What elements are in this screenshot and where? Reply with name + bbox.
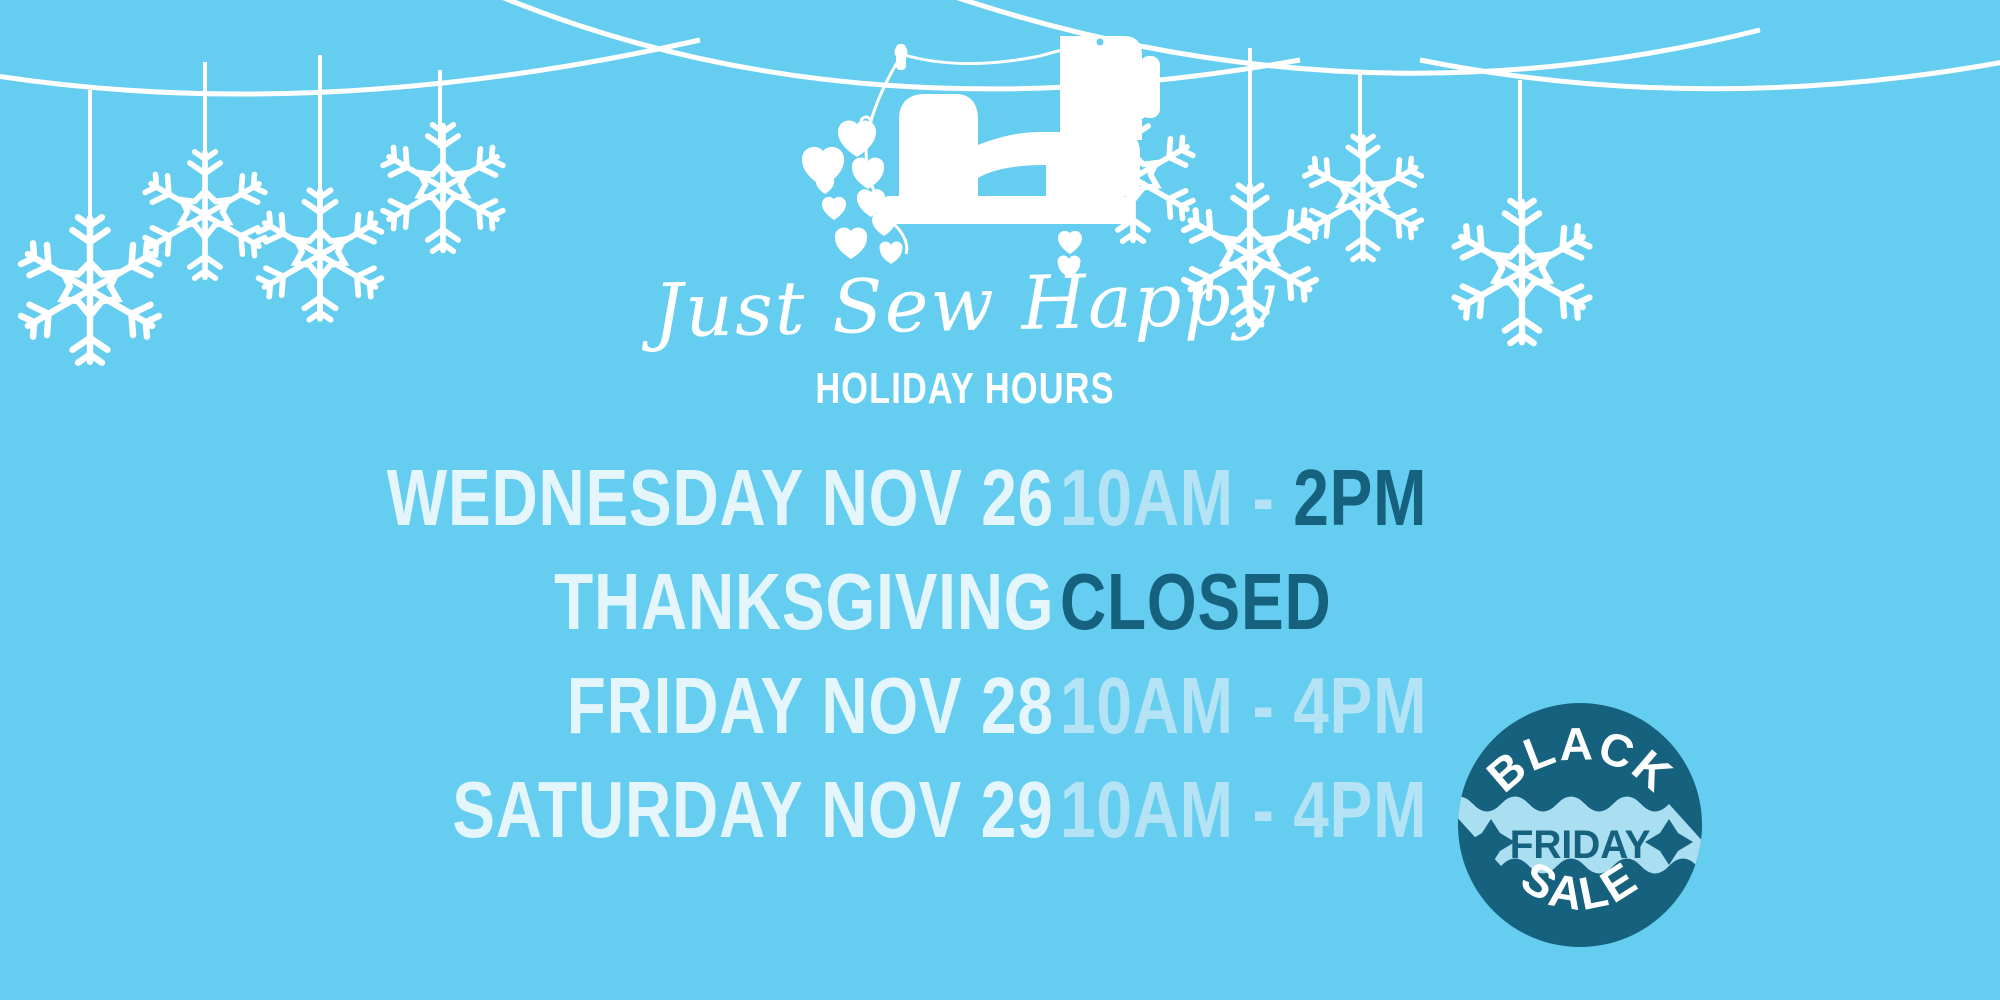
hours-time-open: 10AM - bbox=[1060, 453, 1293, 542]
brand-title-block: Just Sew Happy HOLIDAY HOURS bbox=[0, 0, 2000, 430]
hours-time-value: 10AM - 4PM bbox=[1060, 764, 1404, 856]
black-friday-sale-badge[interactable]: BLACK FRIDAY SALE bbox=[1455, 700, 1705, 950]
hours-day-label: THANKSGIVING bbox=[554, 556, 1054, 648]
brand-script-title: Just Sew Happy bbox=[639, 261, 1290, 349]
hours-row: FRIDAY NOV 28 10AM - 4PM bbox=[0, 660, 1490, 764]
hours-time-open: 10AM - 4PM bbox=[1060, 661, 1427, 750]
subtitle-holiday-hours: HOLIDAY HOURS bbox=[712, 364, 1219, 414]
hours-list: WEDNESDAY NOV 26 10AM - 2PM THANKSGIVING… bbox=[0, 452, 1490, 868]
hours-row: WEDNESDAY NOV 26 10AM - 2PM bbox=[0, 452, 1490, 556]
hours-day-label: FRIDAY NOV 28 bbox=[567, 660, 1054, 752]
hours-time-value: CLOSED bbox=[1060, 556, 1404, 648]
holiday-hours-flyer: Just Sew Happy HOLIDAY HOURS WEDNESDAY N… bbox=[0, 0, 2000, 1000]
hours-time-value: 10AM - 4PM bbox=[1060, 660, 1404, 752]
hours-row: SATURDAY NOV 29 10AM - 4PM bbox=[0, 764, 1490, 868]
hours-day-label: WEDNESDAY NOV 26 bbox=[387, 452, 1054, 544]
hours-day-label: SATURDAY NOV 29 bbox=[453, 764, 1054, 856]
hours-time-close: CLOSED bbox=[1060, 557, 1331, 646]
badge-middle-text: FRIDAY bbox=[1510, 822, 1651, 867]
hours-time-value: 10AM - 2PM bbox=[1060, 452, 1404, 544]
hours-time-open: 10AM - 4PM bbox=[1060, 765, 1427, 854]
hours-time-close: 2PM bbox=[1293, 453, 1427, 542]
hours-row: THANKSGIVING CLOSED bbox=[0, 556, 1490, 660]
